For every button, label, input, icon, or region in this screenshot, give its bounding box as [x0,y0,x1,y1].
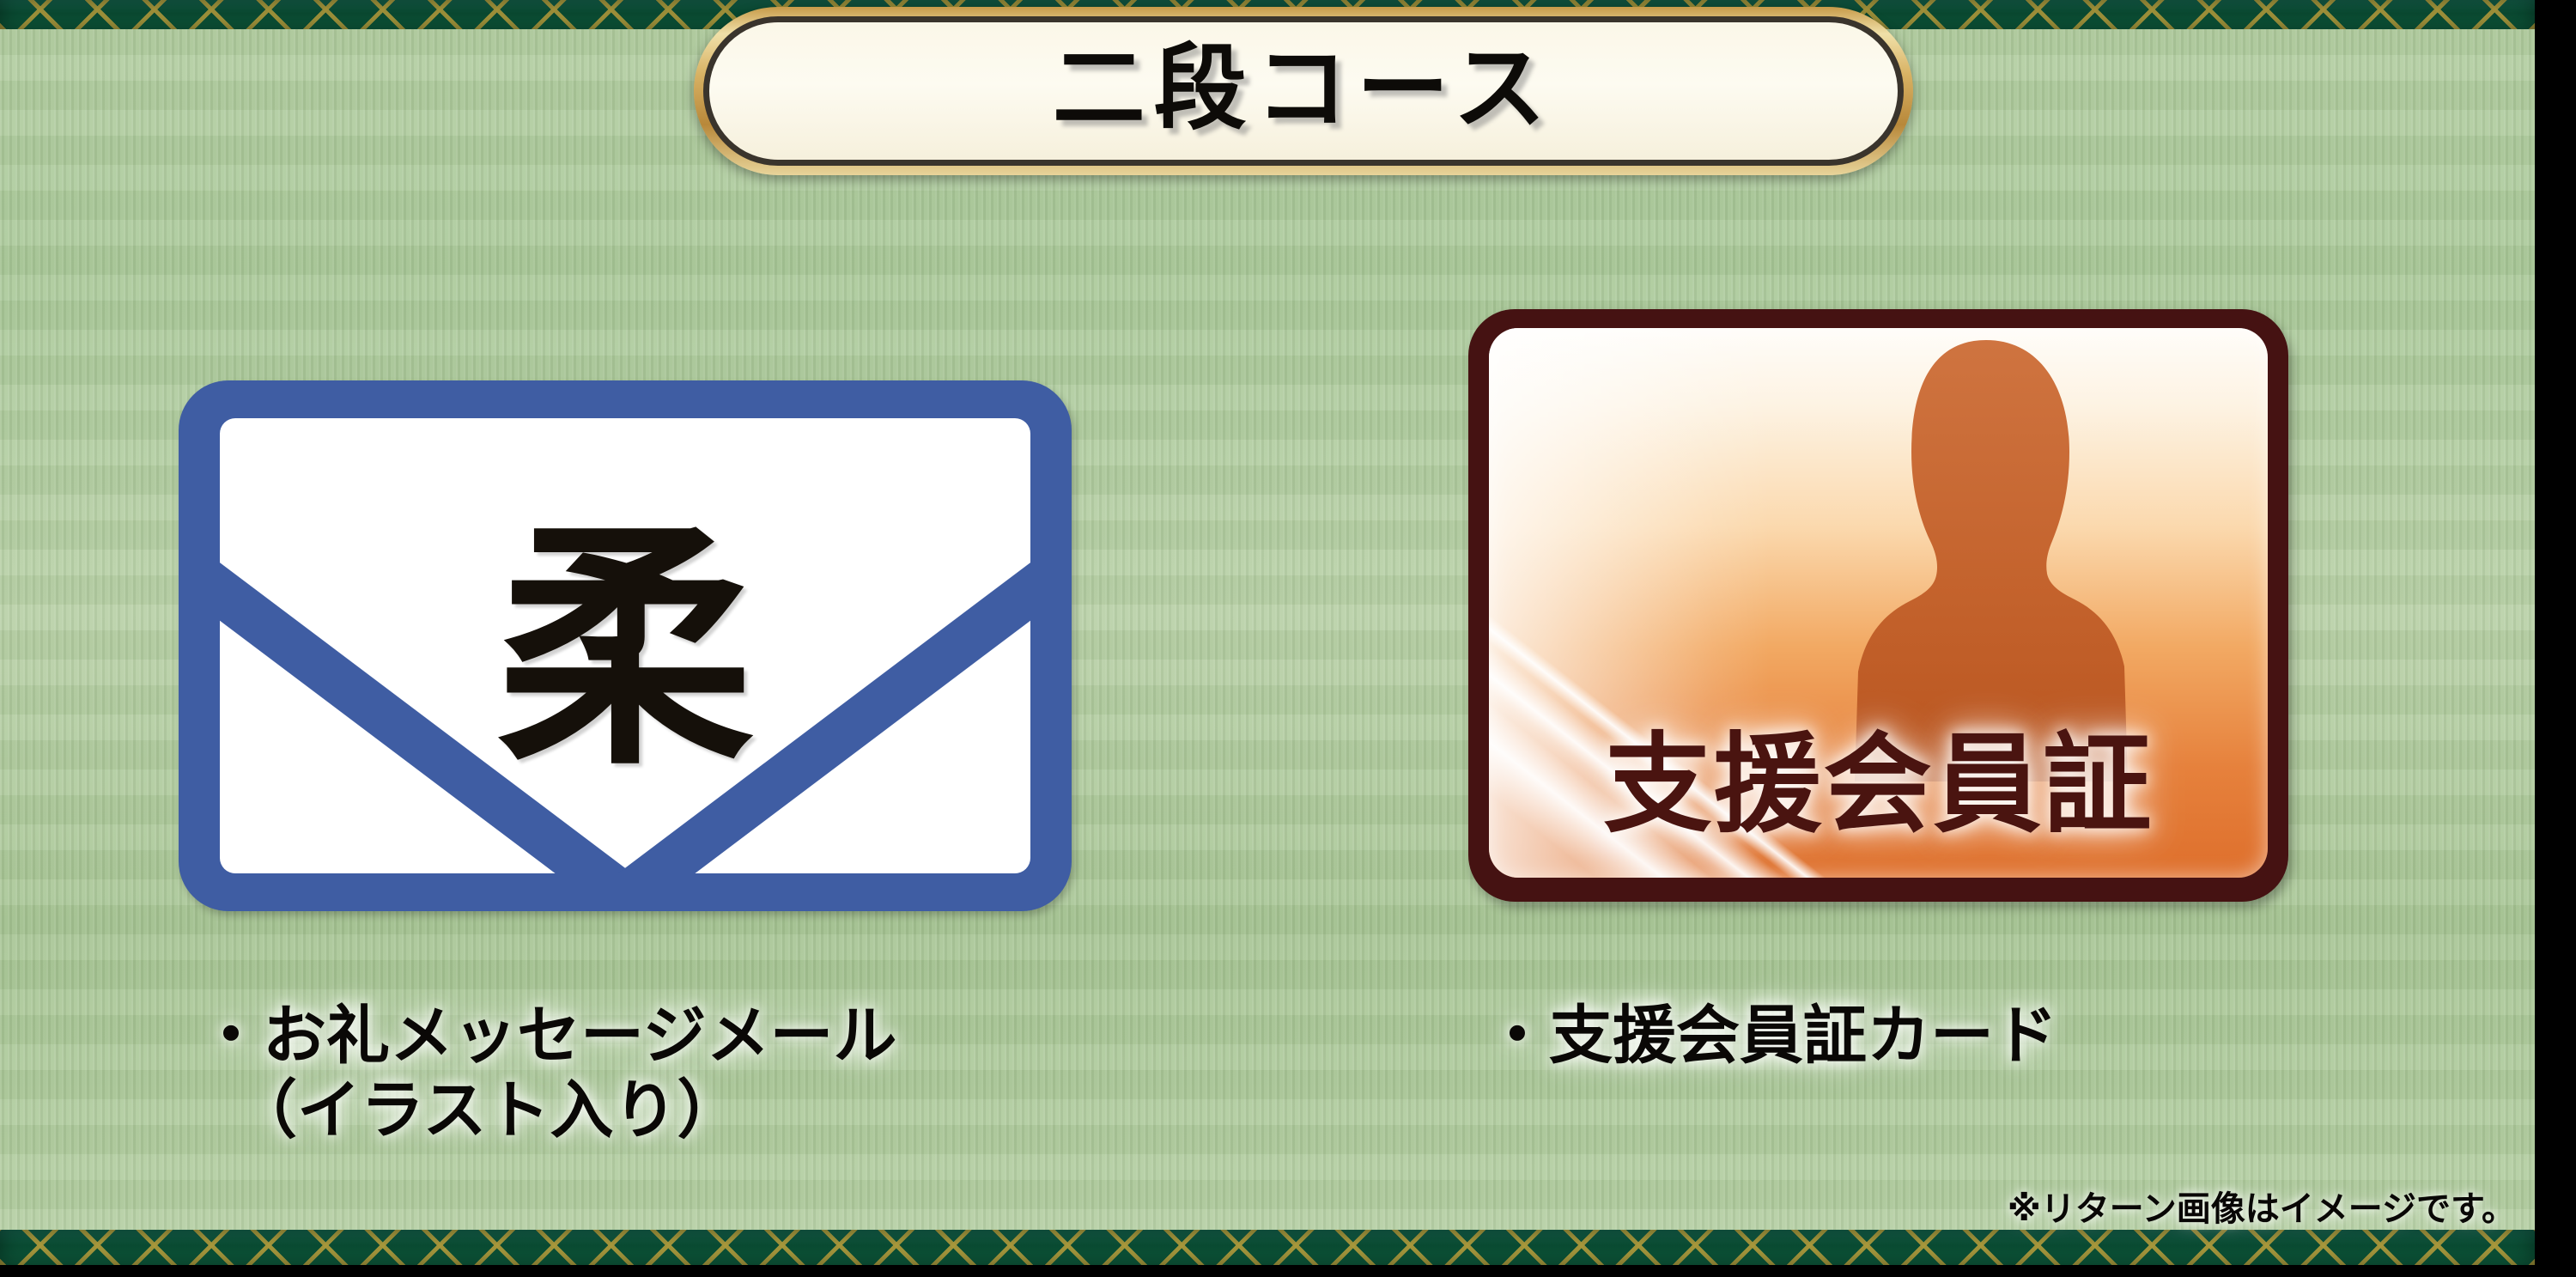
frame-bar-bottom [0,1265,2576,1277]
membership-card-label: 支援会員証 [1489,730,2268,838]
reward-caption-mail-line2: （イラスト入り） [199,1073,897,1148]
reward-tier-graphic: 二段コース 柔 [0,0,2576,1277]
membership-card-face: 支援会員証 [1489,328,2268,878]
person-silhouette-icon [1844,335,2128,781]
reward-caption-card: ・支援会員証カード [1485,999,2057,1073]
title-banner-inner: 二段コース [703,16,1904,166]
title-banner: 二段コース [694,7,1913,175]
ornamental-border-bottom [0,1230,2535,1265]
envelope-icon: 柔 [179,380,1072,911]
reward-caption-mail-line1: ・お礼メッセージメール [199,999,897,1073]
reward-caption-mail: ・お礼メッセージメール （イラスト入り） [199,999,897,1149]
page-title: 二段コース [1053,42,1555,135]
envelope-body: 柔 [179,380,1072,911]
reward-caption-card-line1: ・支援会員証カード [1485,999,2057,1073]
frame-bar-right [2535,0,2576,1277]
membership-card-icon: 支援会員証 [1468,309,2288,902]
disclaimer-note: ※リターン画像はイメージです。 [2008,1181,2516,1231]
judo-kanji-glyph: 柔 [179,520,1072,777]
